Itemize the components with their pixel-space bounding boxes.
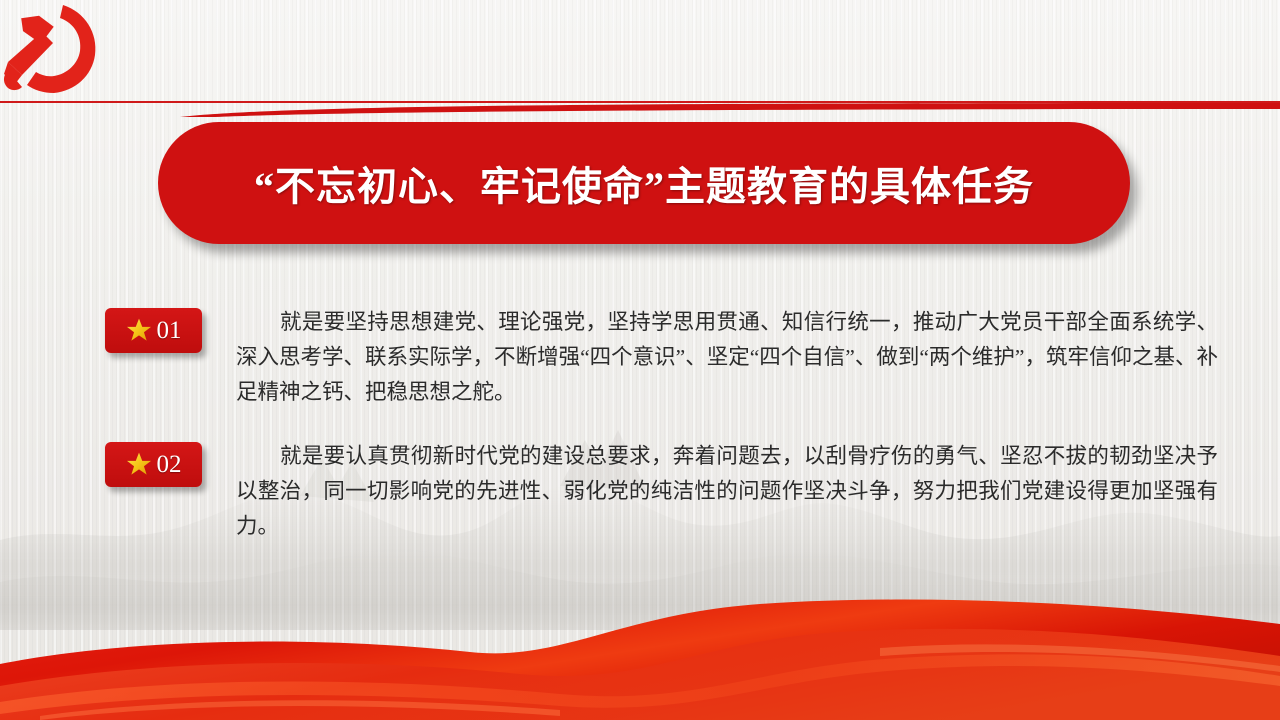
item-paragraph: 就是要认真贯彻新时代党的建设总要求，奔着问题去，以刮骨疗伤的勇气、坚忍不拔的韧劲… — [236, 439, 1218, 544]
slide-title-banner: “不忘初心、牢记使命”主题教育的具体任务 — [158, 122, 1130, 244]
five-gold-stars-decoration — [0, 590, 1280, 720]
red-header-accent — [0, 103, 1280, 117]
item-paragraph: 就是要坚持思想建党、理论强党，坚持学思用贯通、知信行统一，推动广大党员干部全面系… — [236, 305, 1218, 410]
gold-star-icon — [126, 451, 152, 477]
gold-star-icon — [126, 317, 152, 343]
item-number-label: 01 — [157, 318, 182, 343]
item-number-badge-02[interactable]: 02 — [105, 442, 202, 487]
item-number-label: 02 — [157, 452, 182, 477]
page-title: “不忘初心、牢记使命”主题教育的具体任务 — [254, 154, 1034, 212]
item-number-badge-01[interactable]: 01 — [105, 308, 202, 353]
hammer-sickle-party-emblem-icon — [2, 2, 102, 97]
slide-canvas: “不忘初心、牢记使命”主题教育的具体任务 01 就是要坚持思想建党、理论强党，坚… — [0, 0, 1280, 720]
